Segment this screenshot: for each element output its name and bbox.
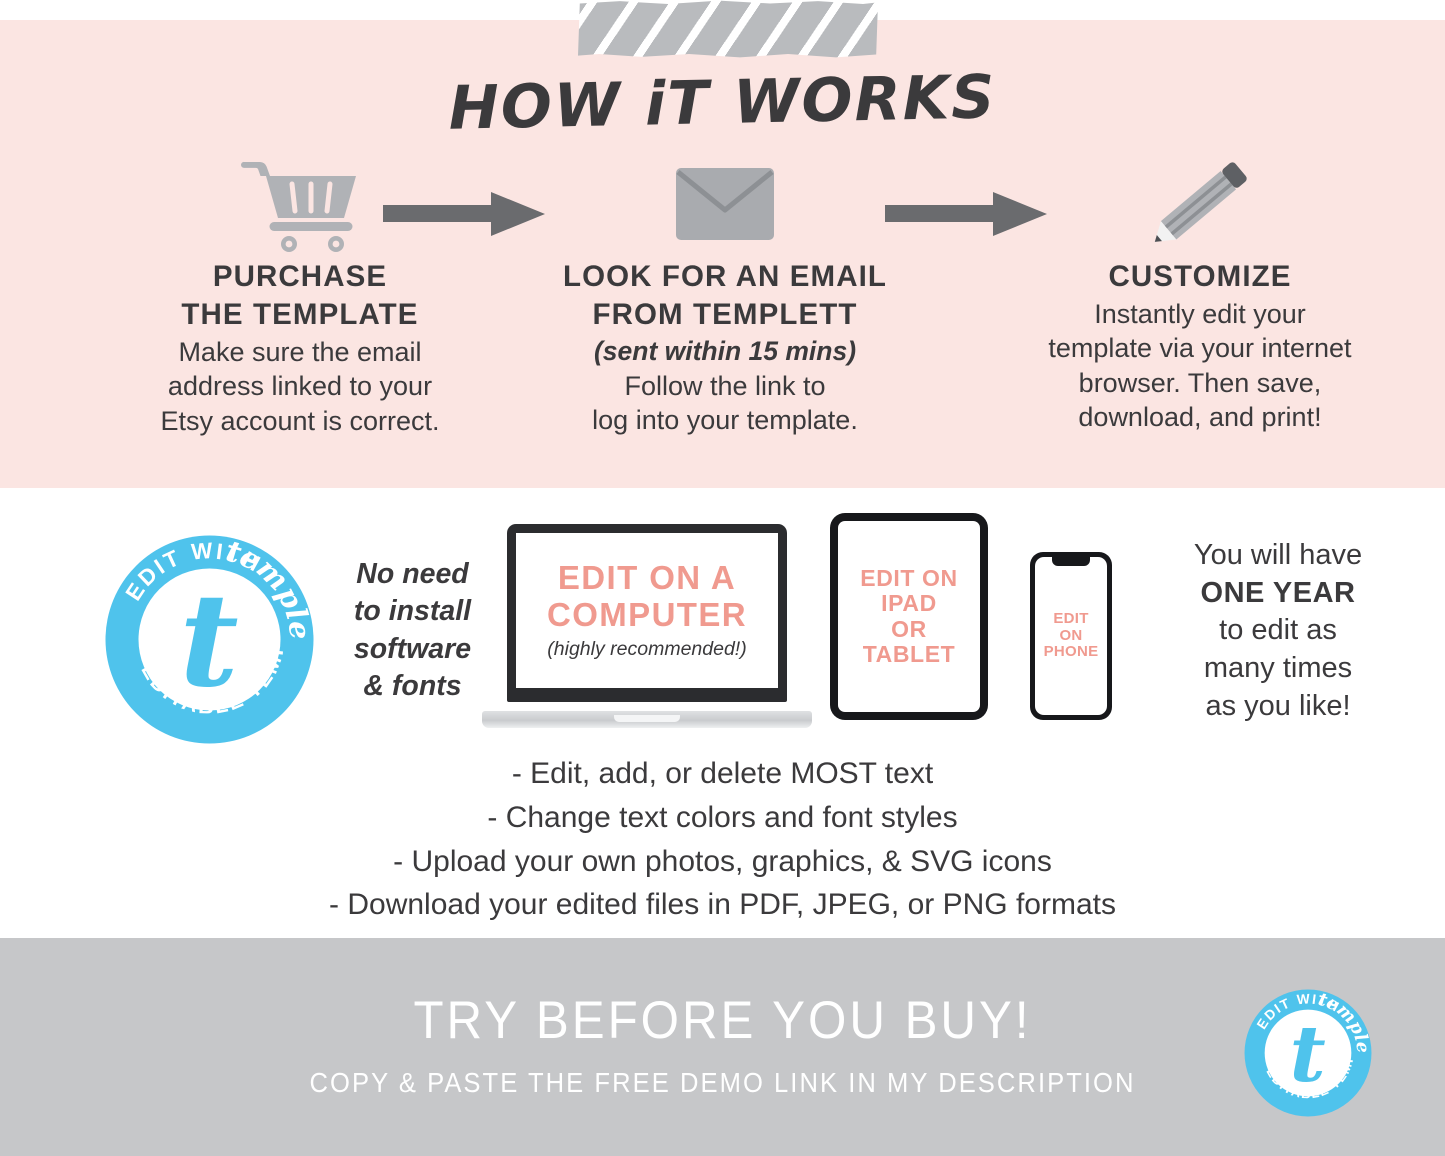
one-year-highlight: ONE YEAR bbox=[1201, 577, 1356, 609]
list-item: - Edit, add, or delete MOST text bbox=[0, 752, 1445, 796]
envelope-icon bbox=[540, 150, 910, 258]
one-year-line2: to edit as bbox=[1128, 612, 1428, 650]
footer-subtitle: COPY & PASTE THE FREE DEMO LINK IN MY DE… bbox=[51, 1067, 1395, 1099]
tablet-screen-title: EDIT ON IPAD OR TABLET bbox=[860, 566, 957, 667]
pencil-icon bbox=[1000, 150, 1400, 258]
laptop-screen-subtitle: (highly recommended!) bbox=[547, 638, 746, 661]
one-year-text: You will have ONE YEAR to edit as many t… bbox=[1128, 537, 1428, 725]
step-heading: PURCHASE THE TEMPLATE bbox=[115, 258, 485, 334]
phone-screen: EDIT ON PHONE bbox=[1035, 557, 1107, 715]
laptop-base bbox=[482, 711, 812, 728]
shopping-cart-icon bbox=[115, 150, 485, 258]
templett-badge-large: EDIT WITH templett EDITABLE TEMPLATE t bbox=[103, 533, 316, 746]
step-purchase: PURCHASE THE TEMPLATE Make sure the emai… bbox=[115, 150, 485, 438]
phone-mockup: EDIT ON PHONE bbox=[1030, 552, 1112, 720]
washi-tape-decoration bbox=[578, 0, 878, 58]
tablet-screen: EDIT ON IPAD OR TABLET bbox=[838, 521, 980, 712]
templett-badge-small: EDIT WITH templett EDITABLE TEMPLATE t bbox=[1243, 988, 1373, 1118]
step-body: Instantly edit your template via your in… bbox=[1000, 297, 1400, 435]
one-year-line3: many times bbox=[1128, 650, 1428, 688]
list-item: - Download your edited files in PDF, JPE… bbox=[0, 883, 1445, 927]
list-item: - Upload your own photos, graphics, & SV… bbox=[0, 840, 1445, 884]
phone-screen-title: EDIT ON PHONE bbox=[1044, 611, 1099, 661]
laptop-screen-title: EDIT ON A COMPUTER bbox=[547, 560, 747, 634]
phone-notch bbox=[1052, 557, 1090, 566]
one-year-line4: as you like! bbox=[1128, 688, 1428, 726]
laptop-screen: EDIT ON A COMPUTER (highly recommended!) bbox=[516, 533, 778, 688]
badge-letter-t: t bbox=[1290, 1009, 1326, 1100]
step-body: Make sure the email address linked to yo… bbox=[115, 335, 485, 439]
footer-title: TRY BEFORE YOU BUY! bbox=[51, 990, 1395, 1051]
steps-row: PURCHASE THE TEMPLATE Make sure the emai… bbox=[0, 150, 1445, 460]
step-customize: CUSTOMIZE Instantly edit your template v… bbox=[1000, 150, 1400, 435]
badge-letter-t: t bbox=[179, 566, 238, 716]
step-heading: CUSTOMIZE bbox=[1000, 258, 1400, 296]
step-look-for-email: LOOK FOR AN EMAIL FROM TEMPLETT (sent wi… bbox=[540, 150, 910, 438]
how-it-works-infographic: HOW iT WORKS bbox=[0, 0, 1445, 1156]
features-list: - Edit, add, or delete MOST text - Chang… bbox=[0, 752, 1445, 927]
tablet-mockup: EDIT ON IPAD OR TABLET bbox=[830, 513, 988, 720]
step-heading: LOOK FOR AN EMAIL FROM TEMPLETT bbox=[540, 258, 910, 334]
step-body: Follow the link to log into your templat… bbox=[540, 369, 910, 438]
list-item: - Change text colors and font styles bbox=[0, 796, 1445, 840]
laptop-mockup: EDIT ON A COMPUTER (highly recommended!) bbox=[482, 524, 812, 732]
one-year-line1: You will have bbox=[1128, 537, 1428, 575]
no-install-text: No need to install software & fonts bbox=[330, 556, 495, 705]
laptop-lid: EDIT ON A COMPUTER (highly recommended!) bbox=[507, 524, 787, 702]
step-timing-note: (sent within 15 mins) bbox=[540, 334, 910, 368]
laptop-trackpad-notch bbox=[614, 715, 680, 722]
